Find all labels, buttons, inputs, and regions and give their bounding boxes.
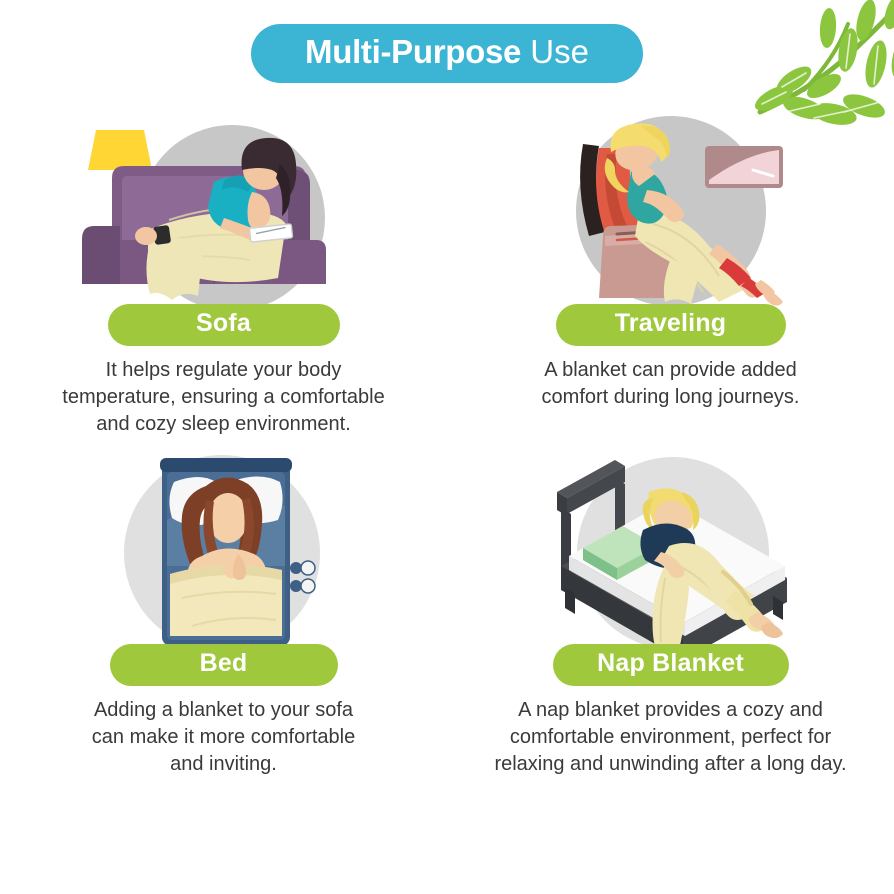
bed-scene-icon <box>74 448 374 648</box>
card-bed: Bed Adding a blanket to your sofa can ma… <box>0 448 447 788</box>
card-label-sofa: Sofa <box>108 304 340 346</box>
illustration-nap-blanket <box>521 448 821 648</box>
card-sofa: Sofa It helps regulate your body tempera… <box>0 108 447 448</box>
page-title-light-spacer <box>521 33 530 70</box>
page-title-light: Use <box>530 33 589 70</box>
card-label-nap-blanket: Nap Blanket <box>553 644 789 686</box>
card-traveling: Traveling A blanket can provide added co… <box>447 108 894 448</box>
traveling-scene-icon <box>521 108 821 308</box>
card-nap-blanket: Nap Blanket A nap blanket provides a coz… <box>447 448 894 788</box>
page-title: Multi-Purpose Use <box>251 24 643 83</box>
sofa-scene-icon <box>74 108 374 308</box>
illustration-bed <box>74 448 374 648</box>
card-description-nap-blanket: A nap blanket provides a cozy and comfor… <box>466 697 876 778</box>
card-label-bed: Bed <box>110 644 338 686</box>
page-title-bold: Multi-Purpose <box>305 33 521 70</box>
illustration-sofa <box>74 108 374 308</box>
card-description-sofa: It helps regulate your body temperature,… <box>24 357 424 438</box>
illustration-traveling <box>521 108 821 308</box>
title-row: Multi-Purpose Use <box>0 24 894 83</box>
feature-cards-grid: Sofa It helps regulate your body tempera… <box>0 108 894 788</box>
card-description-bed: Adding a blanket to your sofa can make i… <box>59 697 389 778</box>
card-description-traveling: A blanket can provide added comfort duri… <box>506 357 836 411</box>
nap-blanket-scene-icon <box>521 448 821 648</box>
card-label-traveling: Traveling <box>556 304 786 346</box>
